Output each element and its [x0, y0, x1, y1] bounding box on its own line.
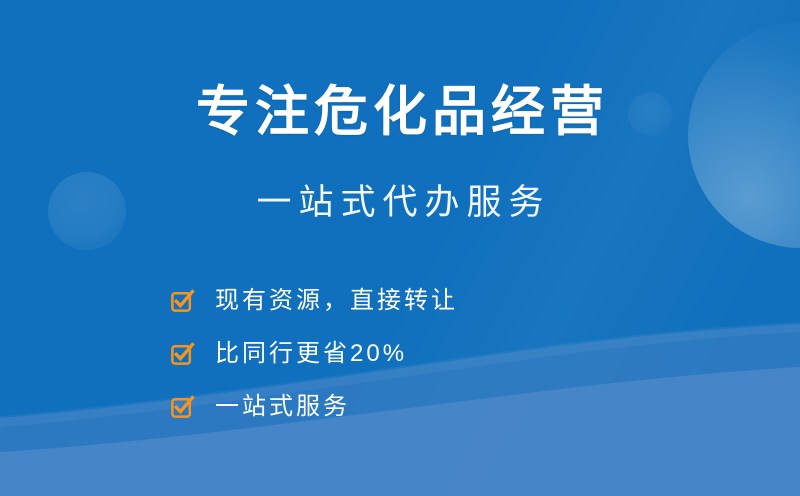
- list-item-label: 比同行更省20%: [215, 342, 407, 366]
- checkbox-checked-icon: [170, 288, 196, 314]
- promotional-banner: 专注危化品经营 一站式代办服务 现有资源，直接转让: [0, 0, 800, 496]
- list-item-label: 现有资源，直接转让: [215, 289, 458, 313]
- checkbox-checked-icon: [170, 341, 196, 367]
- checkbox-checked-icon: [170, 394, 196, 420]
- banner-subheadline: 一站式代办服务: [0, 185, 800, 220]
- banner-content: 专注危化品经营 一站式代办服务 现有资源，直接转让: [0, 0, 800, 496]
- list-item: 比同行更省20%: [170, 327, 650, 380]
- list-item-label: 一站式服务: [215, 395, 350, 419]
- banner-headline: 专注危化品经营: [0, 84, 800, 138]
- feature-list: 现有资源，直接转让 比同行更省20% 一站式: [170, 274, 650, 433]
- list-item: 现有资源，直接转让: [170, 274, 650, 327]
- list-item: 一站式服务: [170, 380, 650, 433]
